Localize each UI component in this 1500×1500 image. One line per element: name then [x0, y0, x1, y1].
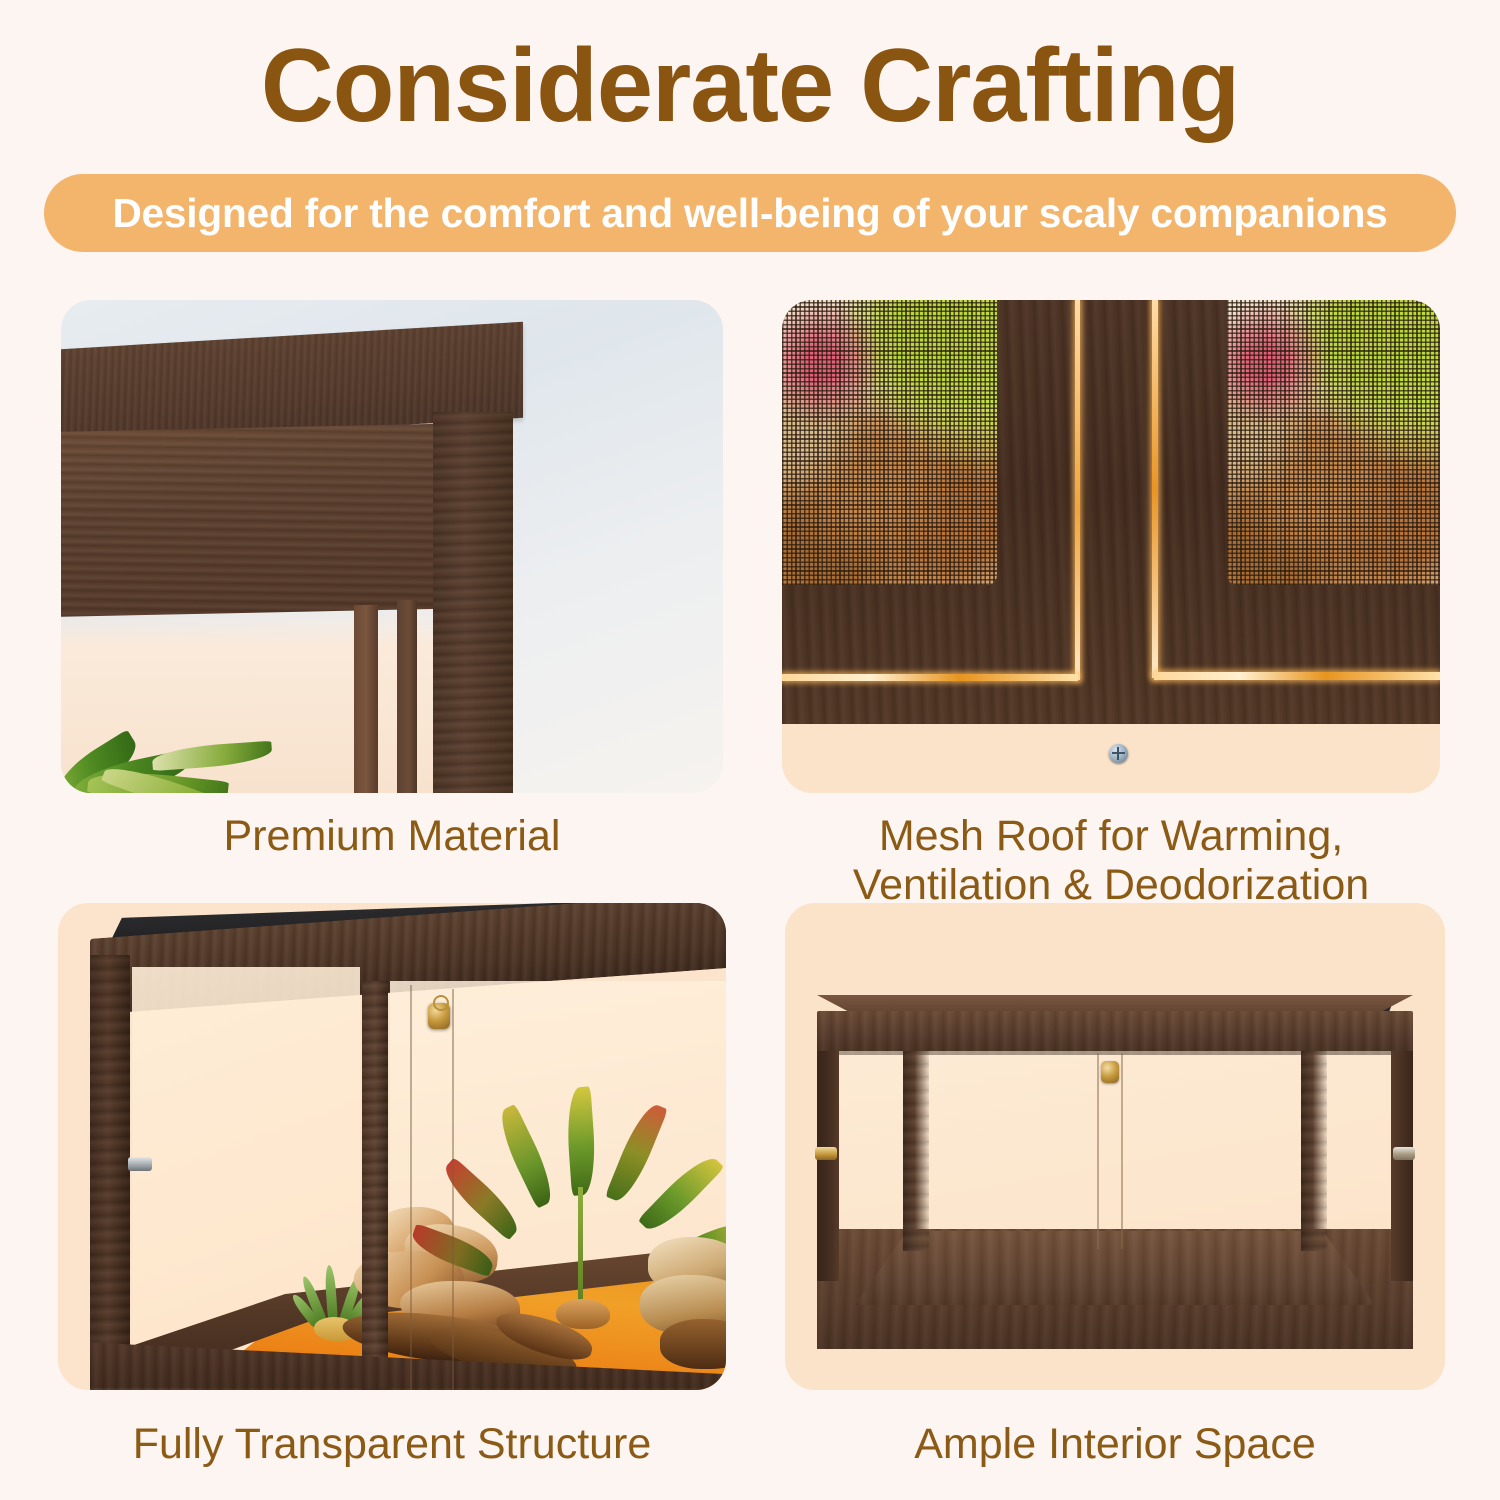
- glass-door-seam-right: [452, 989, 454, 1390]
- wood-post-left-outer: [817, 1051, 839, 1281]
- wood-side-post: [433, 412, 513, 793]
- wood-post-right-outer: [1391, 1051, 1413, 1281]
- brass-door-knob: [1101, 1061, 1119, 1083]
- glass-door-seam-left: [1097, 1053, 1099, 1249]
- wood-mid-post: [362, 981, 388, 1390]
- wood-inner-post-2: [397, 600, 417, 793]
- caption-fully-transparent-structure: Fully Transparent Structure: [58, 1420, 726, 1469]
- rock-decor: [640, 1237, 726, 1377]
- light-gap-vertical-left: [1075, 300, 1080, 680]
- wood-top-frame: [817, 1011, 1413, 1055]
- glass-door-seam-left: [410, 985, 412, 1390]
- wood-left-post: [90, 955, 130, 1385]
- feature-image-mesh-roof: [782, 300, 1440, 793]
- feature-image-fully-transparent-structure: [58, 903, 726, 1390]
- screw-icon: [1109, 744, 1128, 763]
- caption-mesh-roof: Mesh Roof for Warming, Ventilation & Deo…: [772, 812, 1450, 910]
- light-gap-vertical-right: [1152, 300, 1158, 678]
- terrarium-angled-view: [80, 907, 726, 1390]
- side-latch-knob-left: [815, 1147, 837, 1160]
- mesh-screen-right: [1227, 300, 1440, 585]
- light-gap-horizontal-right: [1154, 672, 1440, 680]
- side-latch-knob: [128, 1157, 152, 1171]
- side-latch-knob-right: [1393, 1147, 1415, 1160]
- light-gap-horizontal-left: [782, 674, 1078, 681]
- wood-post-right-inner: [1301, 1051, 1327, 1251]
- caption-mesh-roof-line-1: Mesh Roof for Warming,: [772, 812, 1450, 861]
- mesh-screen-left: [782, 300, 997, 585]
- wood-front-board: [61, 424, 438, 617]
- brass-door-knob: [428, 1003, 450, 1029]
- glass-door-seam-right: [1121, 1053, 1123, 1249]
- caption-ample-interior-space: Ample Interior Space: [785, 1420, 1445, 1469]
- terrarium-front-view: [807, 999, 1423, 1299]
- feature-image-ample-interior-space: [785, 903, 1445, 1390]
- page-title: Considerate Crafting: [23, 34, 1478, 138]
- wood-inner-post-1: [354, 605, 378, 793]
- subtitle-text: Designed for the comfort and well-being …: [112, 191, 1387, 235]
- wood-interior-floor: [855, 1231, 1375, 1305]
- feature-image-premium-material: [61, 300, 723, 793]
- wood-post-left-inner: [903, 1051, 929, 1251]
- caption-premium-material: Premium Material: [61, 812, 723, 861]
- subtitle-banner: Designed for the comfort and well-being …: [44, 174, 1456, 252]
